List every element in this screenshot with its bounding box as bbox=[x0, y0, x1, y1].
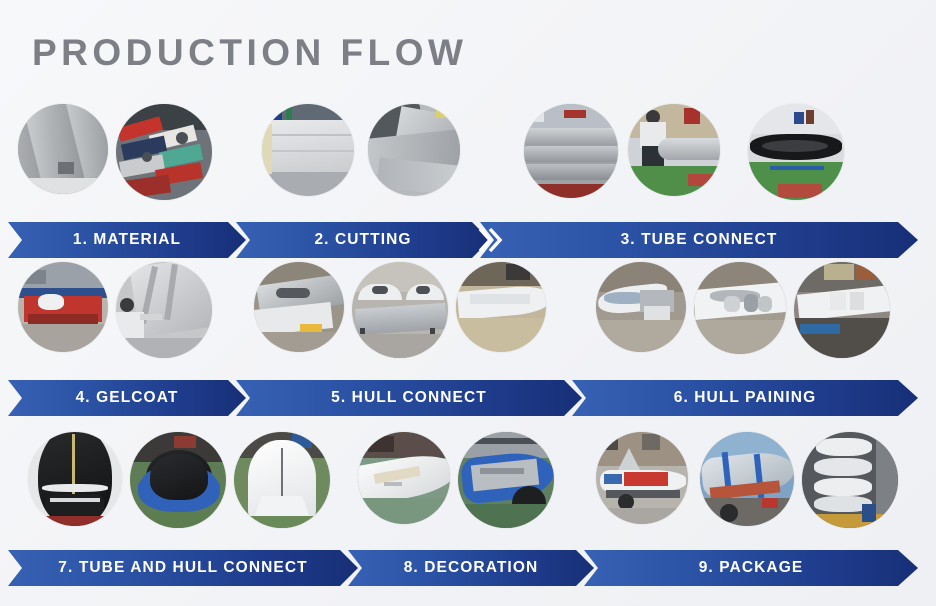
photo-blue-tube-black-hull bbox=[130, 432, 226, 528]
photo-strip-row-1 bbox=[0, 104, 936, 216]
step-label: 5. HULL CONNECT bbox=[331, 389, 487, 407]
photo-gray-fabric-rolls bbox=[18, 104, 108, 194]
photo-gray-tubes-stack bbox=[524, 104, 618, 198]
step-package[interactable]: 9. PACKAGE bbox=[584, 550, 918, 586]
step-hull-connect[interactable]: 5. HULL CONNECT bbox=[236, 380, 582, 416]
step-decoration[interactable]: 8. DECORATION bbox=[348, 550, 594, 586]
photo-hull-deck-panel bbox=[456, 262, 546, 352]
photo-red-mold-gelcoat bbox=[18, 262, 108, 352]
photo-hulls-on-tables bbox=[352, 262, 448, 358]
flow-banner-row-2: 4. GELCOAT 5. HULL CONNECT 6. HULL PAINI… bbox=[0, 380, 936, 416]
step-material[interactable]: 1. MATERIAL bbox=[8, 222, 246, 258]
step-label: 3. TUBE CONNECT bbox=[621, 231, 778, 249]
photo-colored-material-rolls bbox=[116, 104, 212, 200]
photo-white-hull-bow bbox=[234, 432, 330, 528]
flow-banner-row-1: 1. MATERIAL 2. CUTTING 3. TUBE CONNECT bbox=[0, 222, 936, 258]
step-label: 9. PACKAGE bbox=[699, 559, 804, 577]
photo-hull-with-seats bbox=[694, 262, 786, 354]
photo-container-loading bbox=[802, 432, 898, 528]
flow-row-2: 4. GELCOAT 5. HULL CONNECT 6. HULL PAINI… bbox=[0, 262, 936, 416]
step-label: 2. CUTTING bbox=[314, 231, 411, 249]
photo-strip-row-3 bbox=[0, 432, 936, 544]
photo-shrink-wrapped-boat bbox=[700, 432, 794, 526]
step-label: 7. TUBE AND HULL CONNECT bbox=[58, 559, 307, 577]
photo-white-boat-finished bbox=[358, 432, 450, 524]
step-label: 6. HULL PAINING bbox=[674, 389, 817, 407]
photo-painted-hull-bow bbox=[596, 262, 686, 352]
step-label: 8. DECORATION bbox=[404, 559, 539, 577]
photo-cutting-table bbox=[262, 104, 354, 196]
step-hull-paining[interactable]: 6. HULL PAINING bbox=[572, 380, 918, 416]
page-title: PRODUCTION FLOW bbox=[32, 34, 467, 71]
photo-blue-tube-boat bbox=[458, 432, 554, 528]
flow-row-3: 7. TUBE AND HULL CONNECT 8. DECORATION 9… bbox=[0, 432, 936, 586]
photo-worker-tube-assembly bbox=[628, 104, 720, 196]
photo-strip-row-2 bbox=[0, 262, 936, 374]
photo-black-tube-boat bbox=[748, 104, 844, 200]
photo-white-hull-shell bbox=[254, 262, 344, 352]
flow-banner-row-3: 7. TUBE AND HULL CONNECT 8. DECORATION 9… bbox=[0, 550, 936, 586]
flow-row-1: 1. MATERIAL 2. CUTTING 3. TUBE CONNECT bbox=[0, 104, 936, 258]
production-flow-infographic: PRODUCTION FLOW bbox=[0, 0, 936, 606]
step-tube-and-hull-connect[interactable]: 7. TUBE AND HULL CONNECT bbox=[8, 550, 358, 586]
photo-hull-console-detail bbox=[794, 262, 890, 358]
photo-gray-pvc-sheet bbox=[368, 104, 460, 196]
photo-boat-on-trailer bbox=[596, 432, 688, 524]
step-tube-connect[interactable]: 3. TUBE CONNECT bbox=[480, 222, 918, 258]
step-cutting[interactable]: 2. CUTTING bbox=[236, 222, 490, 258]
step-label: 1. MATERIAL bbox=[73, 231, 181, 249]
step-label: 4. GELCOAT bbox=[76, 389, 179, 407]
photo-worker-spraying-mold bbox=[116, 262, 212, 358]
step-gelcoat[interactable]: 4. GELCOAT bbox=[8, 380, 246, 416]
photo-black-hull-bow bbox=[28, 432, 122, 526]
